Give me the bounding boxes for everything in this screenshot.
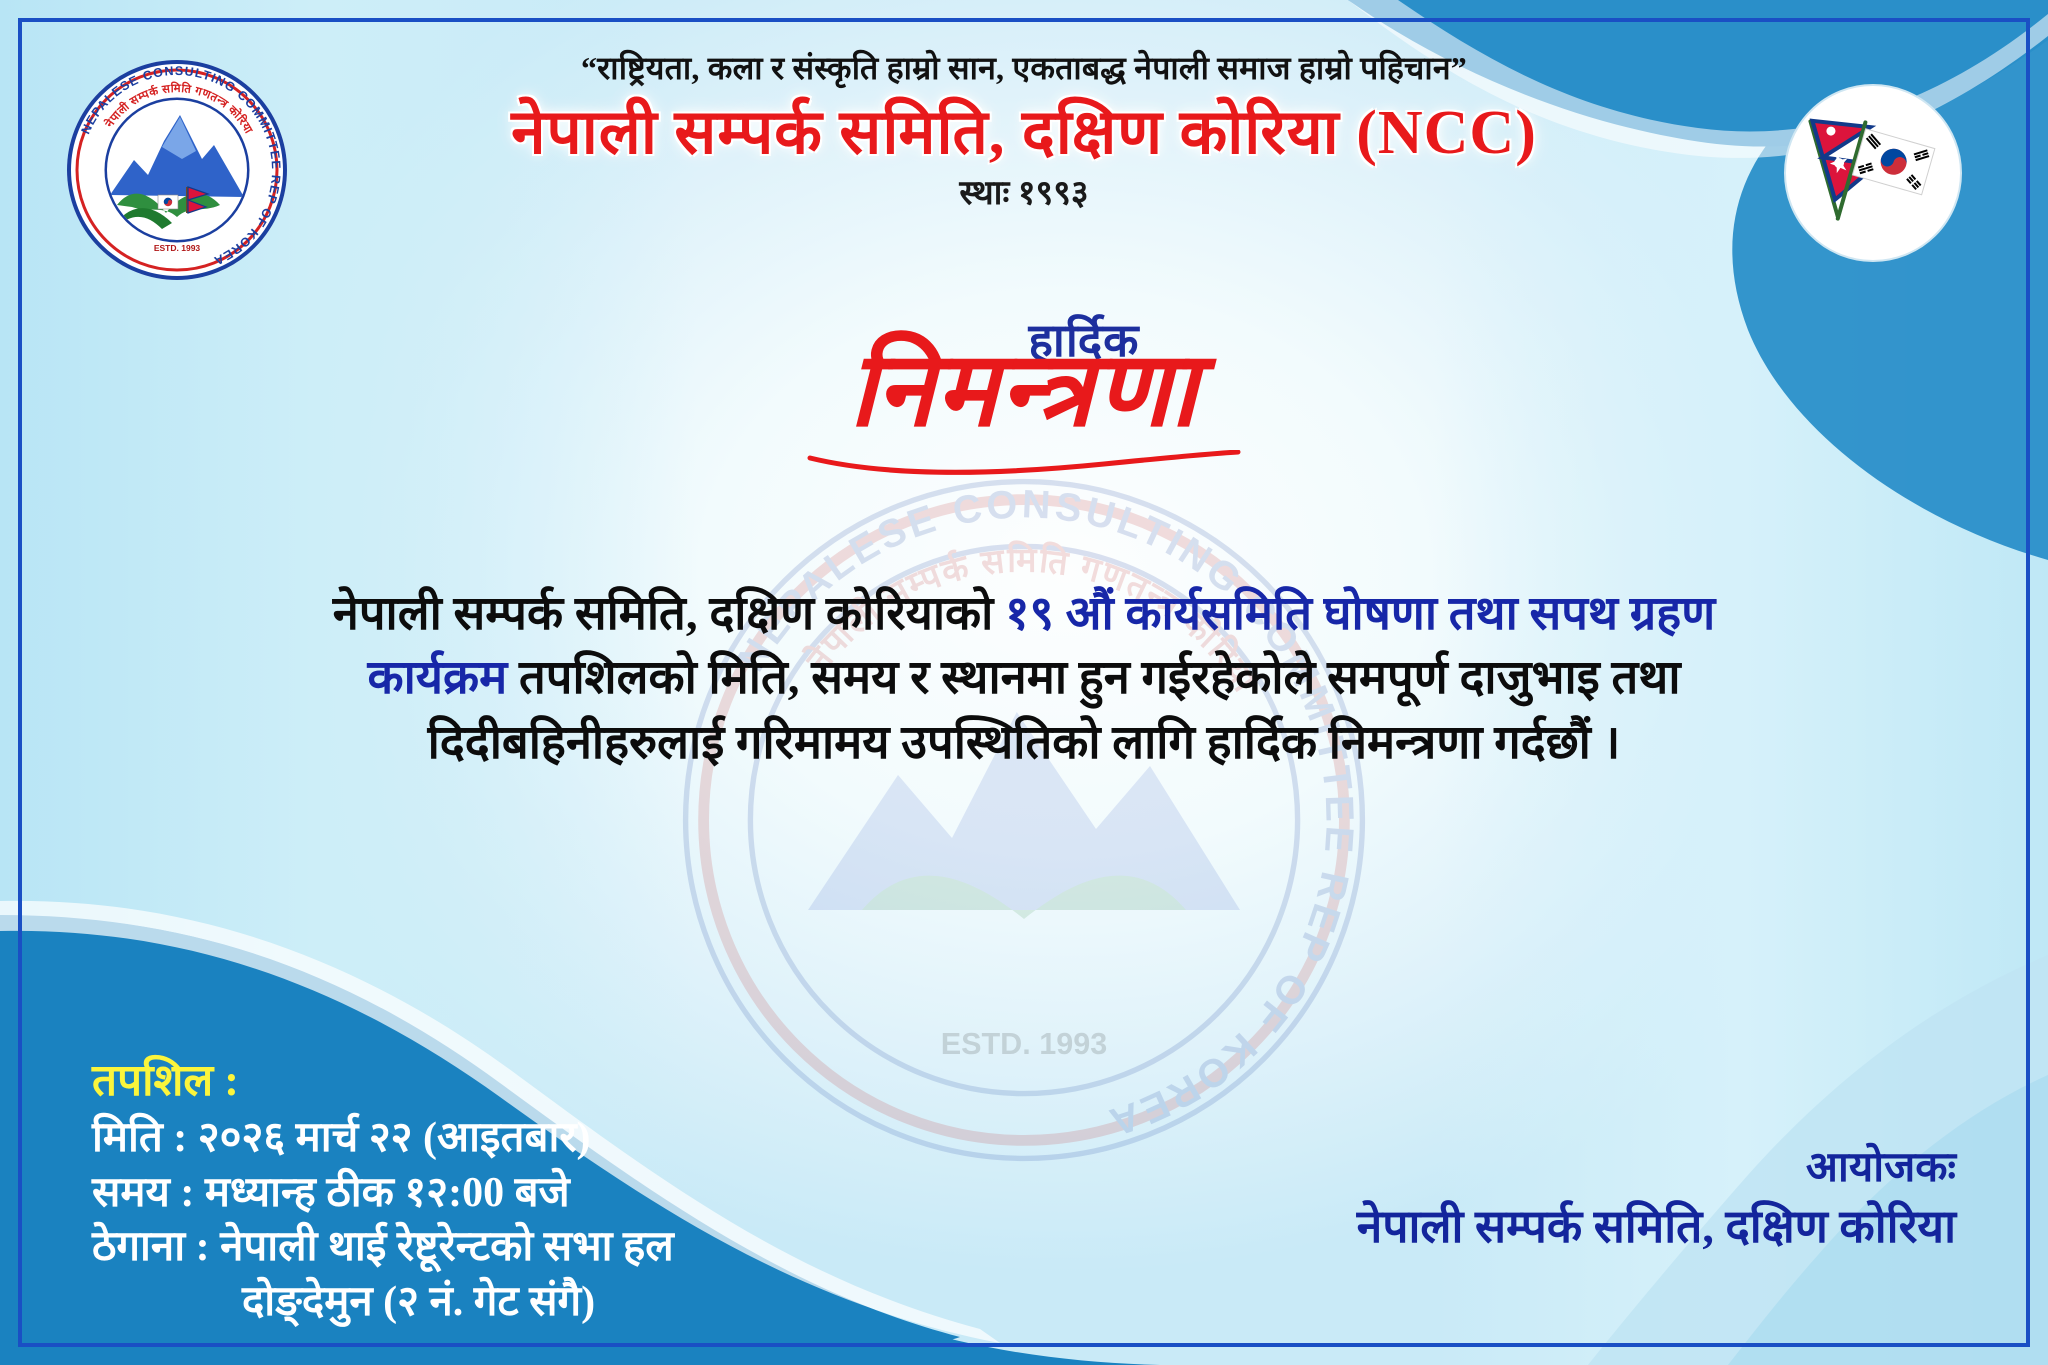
body-line2-highlight: कार्यक्रम (368, 652, 508, 704)
established-year: स्थाः १९९३ (0, 168, 2048, 214)
body-line3: दिदीबहिनीहरुलाई गरिमामय उपस्थितिको लागि … (428, 717, 1621, 769)
details-time: समय : मध्यान्ह ठीक १२:00 बजे (92, 1166, 674, 1221)
event-details: तपशिल : मिति : २०२६ मार्च २२ (आइतबार) सम… (92, 1052, 674, 1330)
nepal-korea-flags-badge (1778, 78, 1968, 268)
body-line2-rest: तपशिलको मिति, समय र स्थानमा हुन गईरहेकोल… (507, 652, 1680, 704)
organizer-name: नेपाली सम्पर्क समिति, दक्षिण कोरिया (1357, 1196, 1956, 1258)
ncc-logo: NEPALESE CONSULTING COMMITTEE REP OF KOR… (62, 55, 292, 285)
invitation-calligraphy: हार्दिक निमन्त्रणा (0, 300, 2048, 480)
invitation-card: NEPALESE CONSULTING COMMITTEE REP OF KOR… (0, 0, 2048, 1365)
details-venue-line2: दोङ्देमुन (२ नं. गेट संगै) (92, 1275, 674, 1330)
body-line1-highlight: १९ औं कार्यसमिति घोषणा तथा सपथ ग्रहण (1005, 588, 1715, 640)
bottom-right-decoration (1288, 895, 2048, 1365)
details-label: तपशिल : (92, 1052, 674, 1109)
invitation-body: नेपाली सम्पर्क समिति, दक्षिण कोरियाको १९… (64, 582, 1984, 775)
body-line1-prefix: नेपाली सम्पर्क समिति, दक्षिण कोरियाको (333, 588, 1005, 640)
organizer-block: आयोजकः नेपाली सम्पर्क समिति, दक्षिण कोरि… (1357, 1140, 1956, 1258)
organization-title: नेपाली सम्पर्क समिति, दक्षिण कोरिया (NCC… (0, 88, 2048, 172)
nimantrana-text: निमन्त्रणा (849, 336, 1199, 445)
details-date: मिति : २०२६ मार्च २२ (आइतबार) (92, 1111, 674, 1166)
calligraphy-swoosh (804, 450, 1244, 476)
slogan: “राष्ट्रियता, कला र संस्कृति हाम्रो सान,… (0, 46, 2048, 89)
details-venue: ठेगाना : नेपाली थाई रेष्टूरेन्टको सभा हल (92, 1220, 674, 1275)
organizer-label: आयोजकः (1357, 1140, 1956, 1196)
svg-text:ESTD. 1993: ESTD. 1993 (154, 243, 201, 253)
